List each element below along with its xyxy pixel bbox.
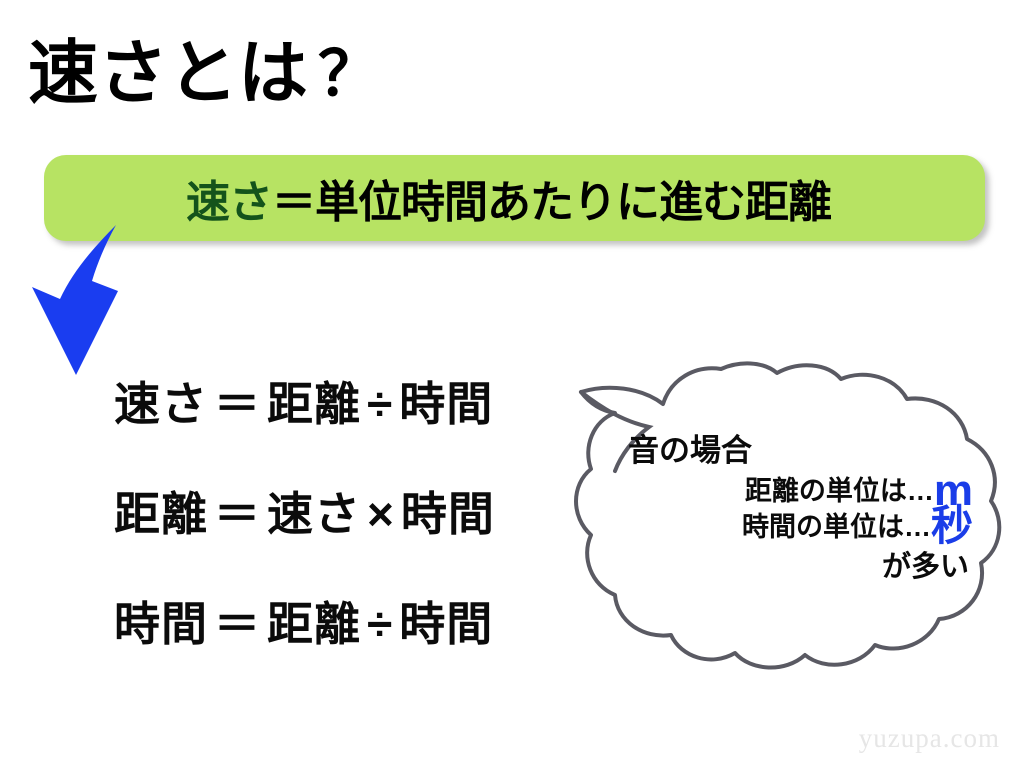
formula-distance: 距離＝速さ×時間 [114, 478, 495, 544]
formula-speed-right-a: 距離 [267, 378, 361, 430]
cloud-distance-label: 距離の単位は… [745, 476, 934, 506]
formula-time-equals: ＝ [208, 598, 267, 650]
definition-banner-line: 速さ＝単位時間あたりに進む距離 [186, 166, 831, 230]
cloud-distance-line: 距離の単位は…m [628, 478, 973, 505]
formula-speed-operator: ÷ [361, 378, 399, 430]
formula-speed-left: 速さ [114, 378, 208, 430]
cloud-time-line: 時間の単位は…秒 [628, 513, 973, 541]
formula-time-operator: ÷ [361, 598, 399, 650]
formula-distance-right-b: 時間 [401, 488, 495, 540]
formula-distance-left: 距離 [114, 488, 208, 540]
formula-time-right-a: 距離 [267, 598, 361, 650]
formula-time: 時間＝距離÷時間 [114, 588, 493, 654]
cloud-time-label: 時間の単位は… [742, 512, 931, 542]
formula-speed-right-b: 時間 [399, 378, 493, 430]
thought-cloud-text: 音の場合 距離の単位は…m 時間の単位は…秒 が多い [628, 435, 973, 582]
formula-time-right-b: 時間 [399, 598, 493, 650]
formula-time-left: 時間 [114, 598, 208, 650]
watermark: yuzupa.com [859, 723, 1000, 754]
cloud-footer: が多い [628, 553, 973, 582]
slide-canvas: 速さとは？ 速さ＝単位時間あたりに進む距離 速さ＝距離÷時間 距離＝速さ×時間 … [0, 0, 1024, 768]
formula-distance-right-a: 速さ [267, 488, 361, 540]
page-title-text: 速さとは [28, 34, 308, 112]
cloud-time-unit: 秒 [931, 502, 973, 549]
definition-body: ＝単位時間あたりに進む距離 [272, 178, 831, 227]
page-title: 速さとは？ [28, 38, 380, 108]
formula-distance-operator: × [361, 488, 401, 540]
formula-speed: 速さ＝距離÷時間 [114, 368, 493, 434]
formula-speed-equals: ＝ [208, 378, 267, 430]
formula-distance-equals: ＝ [208, 488, 267, 540]
question-mark-glyph: ？ [308, 40, 380, 109]
cloud-heading: 音の場合 [628, 435, 973, 466]
